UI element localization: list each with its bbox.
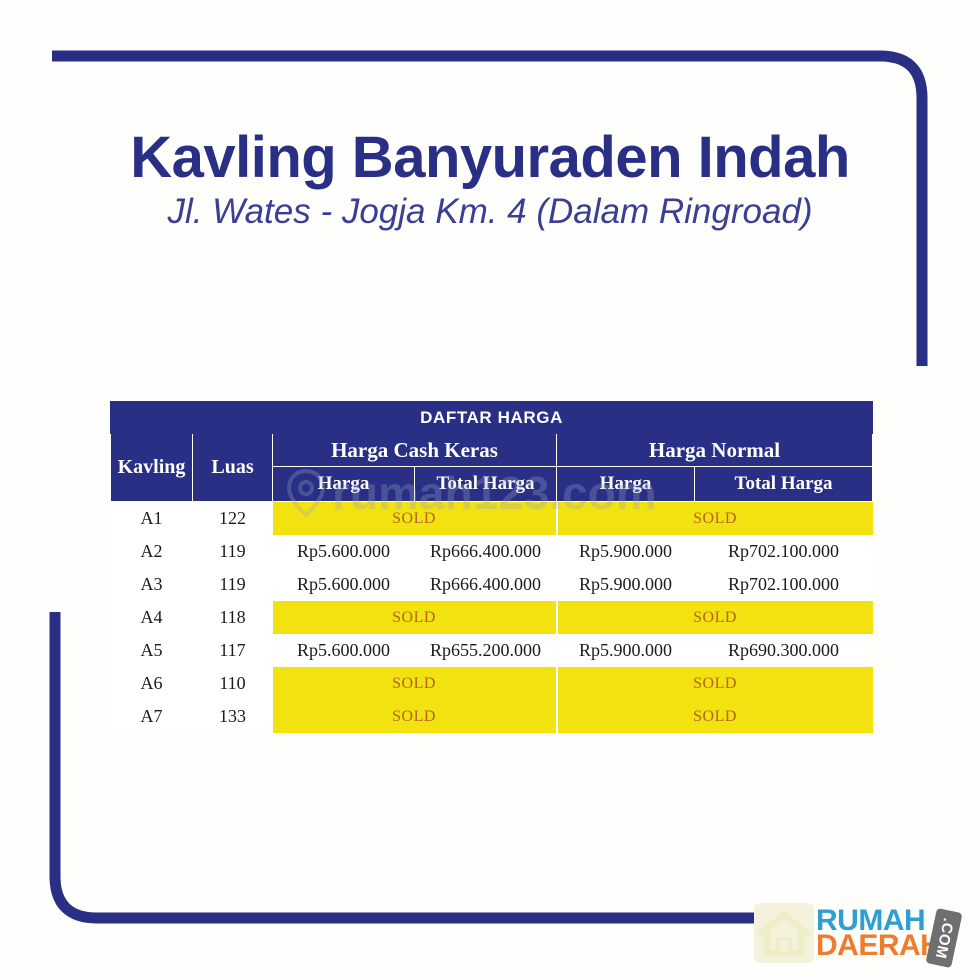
cell-luas: 118	[193, 601, 273, 634]
cell-normal-harga: Rp5.900.000	[557, 634, 695, 667]
col-header-cash-harga: Harga	[273, 467, 415, 502]
cell-kavling: A2	[111, 535, 193, 568]
cell-normal-sold: SOLD	[557, 502, 873, 536]
cell-kavling: A4	[111, 601, 193, 634]
cell-kavling: A6	[111, 667, 193, 700]
cell-normal-harga: Rp5.900.000	[557, 535, 695, 568]
col-header-luas: Luas	[193, 434, 273, 502]
cell-kavling: A7	[111, 700, 193, 733]
cell-normal-total-harga: Rp702.100.000	[695, 535, 873, 568]
cell-luas: 122	[193, 502, 273, 536]
page-title: Kavling Banyuraden Indah	[0, 128, 980, 187]
cell-luas: 119	[193, 535, 273, 568]
cell-normal-harga: Rp5.900.000	[557, 568, 695, 601]
col-header-normal-harga: Harga	[557, 467, 695, 502]
page-subtitle: Jl. Wates - Jogja Km. 4 (Dalam Ringroad)	[0, 193, 980, 232]
brand-logo: RUMAH DAERAH .COM	[754, 900, 968, 966]
cell-kavling: A3	[111, 568, 193, 601]
table-row: A5117Rp5.600.000Rp655.200.000Rp5.900.000…	[111, 634, 873, 667]
logo-line-daerah: DAERAH	[816, 933, 941, 958]
cell-cash-sold: SOLD	[273, 700, 557, 733]
col-group-header-harga-cash-keras: Harga Cash Keras	[273, 434, 557, 467]
cell-cash-sold: SOLD	[273, 667, 557, 700]
header-block: Kavling Banyuraden Indah Jl. Wates - Jog…	[0, 128, 980, 232]
price-table-container: DAFTAR HARGA Kavling Luas Harga Cash Ker…	[110, 401, 872, 733]
cell-luas: 133	[193, 700, 273, 733]
cell-luas: 119	[193, 568, 273, 601]
logo-com-tag-text: .COM	[934, 916, 955, 959]
table-banner-title: DAFTAR HARGA	[111, 402, 873, 434]
price-table: DAFTAR HARGA Kavling Luas Harga Cash Ker…	[110, 401, 873, 733]
table-banner-row: DAFTAR HARGA	[111, 402, 873, 434]
table-row: A4118SOLDSOLD	[111, 601, 873, 634]
cell-cash-total-harga: Rp666.400.000	[415, 568, 557, 601]
cell-normal-total-harga: Rp690.300.000	[695, 634, 873, 667]
table-body: A1122SOLDSOLDA2119Rp5.600.000Rp666.400.0…	[111, 502, 873, 734]
col-header-cash-total-harga: Total Harga	[415, 467, 557, 502]
cell-cash-sold: SOLD	[273, 601, 557, 634]
cell-luas: 110	[193, 667, 273, 700]
cell-normal-sold: SOLD	[557, 700, 873, 733]
cell-cash-total-harga: Rp666.400.000	[415, 535, 557, 568]
cell-cash-total-harga: Rp655.200.000	[415, 634, 557, 667]
cell-cash-harga: Rp5.600.000	[273, 535, 415, 568]
cell-normal-total-harga: Rp702.100.000	[695, 568, 873, 601]
table-row: A7133SOLDSOLD	[111, 700, 873, 733]
col-header-kavling: Kavling	[111, 434, 193, 502]
table-group-header-row: Kavling Luas Harga Cash Keras Harga Norm…	[111, 434, 873, 467]
cell-cash-harga: Rp5.600.000	[273, 634, 415, 667]
col-header-normal-total-harga: Total Harga	[695, 467, 873, 502]
cell-normal-sold: SOLD	[557, 601, 873, 634]
cell-kavling: A5	[111, 634, 193, 667]
col-group-header-harga-normal: Harga Normal	[557, 434, 873, 467]
table-row: A2119Rp5.600.000Rp666.400.000Rp5.900.000…	[111, 535, 873, 568]
cell-normal-sold: SOLD	[557, 667, 873, 700]
house-icon	[754, 903, 814, 963]
table-row: A6110SOLDSOLD	[111, 667, 873, 700]
table-row: A1122SOLDSOLD	[111, 502, 873, 536]
table-head: DAFTAR HARGA Kavling Luas Harga Cash Ker…	[111, 402, 873, 502]
cell-luas: 117	[193, 634, 273, 667]
cell-kavling: A1	[111, 502, 193, 536]
table-row: A3119Rp5.600.000Rp666.400.000Rp5.900.000…	[111, 568, 873, 601]
cell-cash-sold: SOLD	[273, 502, 557, 536]
house-icon-svg	[754, 903, 814, 963]
logo-wordmark: RUMAH DAERAH .COM	[816, 908, 941, 958]
cell-cash-harga: Rp5.600.000	[273, 568, 415, 601]
